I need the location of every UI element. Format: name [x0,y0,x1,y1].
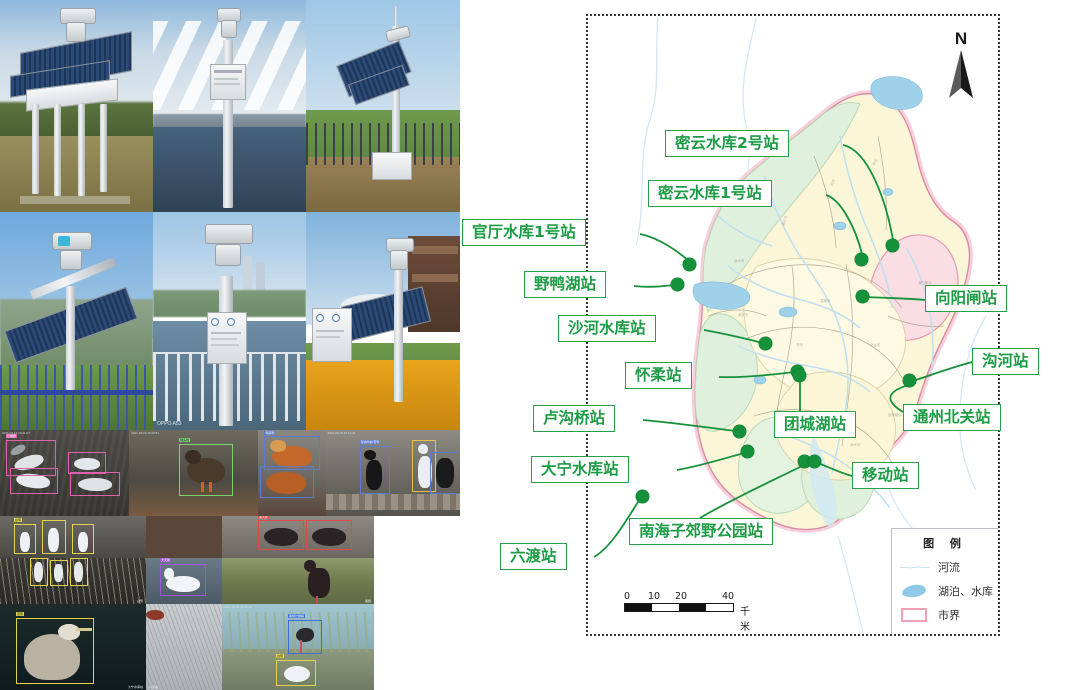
station-dot-tuanchenghu[interactable] [793,369,806,382]
photo-station-garden-solar-camera [306,212,460,430]
legend-city: 市界 [900,607,990,622]
station-label-yidong[interactable]: 移动站 [852,462,919,489]
station-label-miyun-2[interactable]: 密云水库2号站 [665,130,789,157]
photo-watermark: 大宁水库站 [128,685,143,689]
detection-gulls: 红嘴鸥 2021-03-12 09:41:07 [0,430,129,516]
detection-shore-egret: 黑翅长脚鹬 白鹭 2021-06-09 11:02:18 [222,604,374,690]
detection-label: 黑翅长脚鹬 [288,614,305,618]
svg-text:妫水河: 妫水河 [734,258,745,263]
legend-city-label: 市界 [938,607,960,623]
station-label-guanting-1[interactable]: 官厅水库1号站 [462,219,586,246]
detection-label: 赤麻鸭 [264,431,275,435]
legend-title: 图 例 [900,535,990,551]
detection-filler [146,516,222,558]
detection-grey-heron: 苍鹭 大宁水库站 [0,604,146,690]
north-arrow-glyph [944,48,978,100]
station-label-daning[interactable]: 大宁水库站 [531,456,629,483]
station-dot-lugouqiao[interactable] [733,425,746,438]
photo-watermark: 白鹭 [137,599,143,603]
detection-label: 白鹭 [276,654,284,658]
legend-lake: 湖泊、水库 [900,583,990,598]
figure-root: OPPO A53 [0,0,1076,690]
station-dot-yidong[interactable] [808,455,821,468]
north-arrow-label: N [944,30,978,48]
scale-segments [624,603,734,612]
station-label-tongzhou[interactable]: 通州北关站 [903,404,1001,431]
station-dot-shahe[interactable] [759,337,772,350]
station-label-huairou[interactable]: 怀柔站 [625,362,692,389]
city-boundary-icon [900,608,930,622]
detection-swan: 大天鹅 [146,558,222,604]
station-dot-yeyahu[interactable] [671,278,684,291]
svg-text:运潮减河: 运潮减河 [888,412,902,417]
photo-timestamp: 2021-06-09 11:02:18 [224,605,252,609]
svg-text:北运河: 北运河 [870,342,881,347]
photo-timestamp: 2021-03-12 09:41:07 [2,431,30,435]
photo-station-riverside-camera: OPPO A53 [153,212,306,430]
detection-label: 普通鸬鹚/苍鹭 [360,440,381,444]
detection-label: 黑天鹅 [258,516,269,519]
photo-timestamp: 2021-04-03 16:22:51 [131,431,159,435]
station-label-xiangyangzha[interactable]: 向阳闸站 [925,285,1007,312]
detection-label: 白鹭 [14,518,22,522]
map-scale-bar: 0 10 20 40 千米 [624,591,752,612]
station-dot-xiangyangzha[interactable] [856,290,869,303]
legend-river: 河流 [900,559,990,574]
photo-station-pole-camera-lake [153,0,306,212]
photo-watermark: 黑鹳 [365,599,371,603]
north-arrow: N [944,30,978,102]
detection-stilt-strip: 六渡站 [146,604,222,690]
station-dot-gouhe[interactable] [903,374,916,387]
detection-cormorant-egret: 普通鸬鹚/苍鹭 2021-05-18 07:13:44 [326,430,460,516]
photo-station-solar-mast-fence [306,0,460,212]
station-dot-liudu[interactable] [636,490,649,503]
detection-reed-egrets: 白鹭 [0,558,146,604]
legend-river-label: 河流 [938,559,960,575]
svg-text:凉水河: 凉水河 [850,442,861,447]
station-label-liudu[interactable]: 六渡站 [500,543,567,570]
photo-watermark: OPPO A53 [157,421,181,427]
detection-label: 绿头鸭 [179,438,190,442]
detection-black-swan: 黑天鹅 [222,516,374,558]
detection-label: 苍鹭 [16,612,24,616]
station-label-shahe[interactable]: 沙河水库站 [558,315,656,342]
svg-text:温榆河: 温榆河 [820,298,831,303]
river-icon [900,560,930,574]
svg-text:清河: 清河 [796,342,803,347]
station-label-miyun-1[interactable]: 密云水库1号站 [648,180,772,207]
station-label-nanhaizi[interactable]: 南海子郊野公园站 [629,518,773,545]
station-dot-guanting-1[interactable] [683,258,696,271]
scale-unit: 千米 [740,603,752,633]
detection-ruddy-shelduck: 赤麻鸭 [258,430,325,516]
scale-ticks: 0 10 20 40 [624,591,752,603]
station-label-gouhe[interactable]: 沟河站 [972,348,1039,375]
detection-duck: 绿头鸭 2021-04-03 16:22:51 [129,430,258,516]
detection-label: 大天鹅 [160,558,171,562]
legend-lake-label: 湖泊、水库 [938,583,993,599]
station-label-lugouqiao[interactable]: 卢沟桥站 [533,405,615,432]
station-dot-miyun-2[interactable] [886,239,899,252]
station-dot-miyun-1[interactable] [855,253,868,266]
photo-timestamp: 2021-05-18 07:13:44 [328,431,356,435]
station-label-tuanchenghu[interactable]: 团城湖站 [774,411,856,438]
monitoring-station-photo-mosaic: OPPO A53 [0,0,460,690]
detection-black-stork: 黑鹳 [222,558,374,604]
lake-icon [900,584,930,598]
station-dot-daning[interactable] [741,445,754,458]
svg-text:永定河: 永定河 [738,312,749,317]
photo-watermark: 六渡站 [149,685,158,689]
photo-station-solar-platform [0,0,153,212]
station-label-yeyahu[interactable]: 野鸭湖站 [524,271,606,298]
detection-egrets: 白鹭 [0,516,146,558]
photo-station-tilted-solar-camera [0,212,153,430]
map-legend: 图 例 河流 湖泊、水库 市界 [891,528,998,634]
